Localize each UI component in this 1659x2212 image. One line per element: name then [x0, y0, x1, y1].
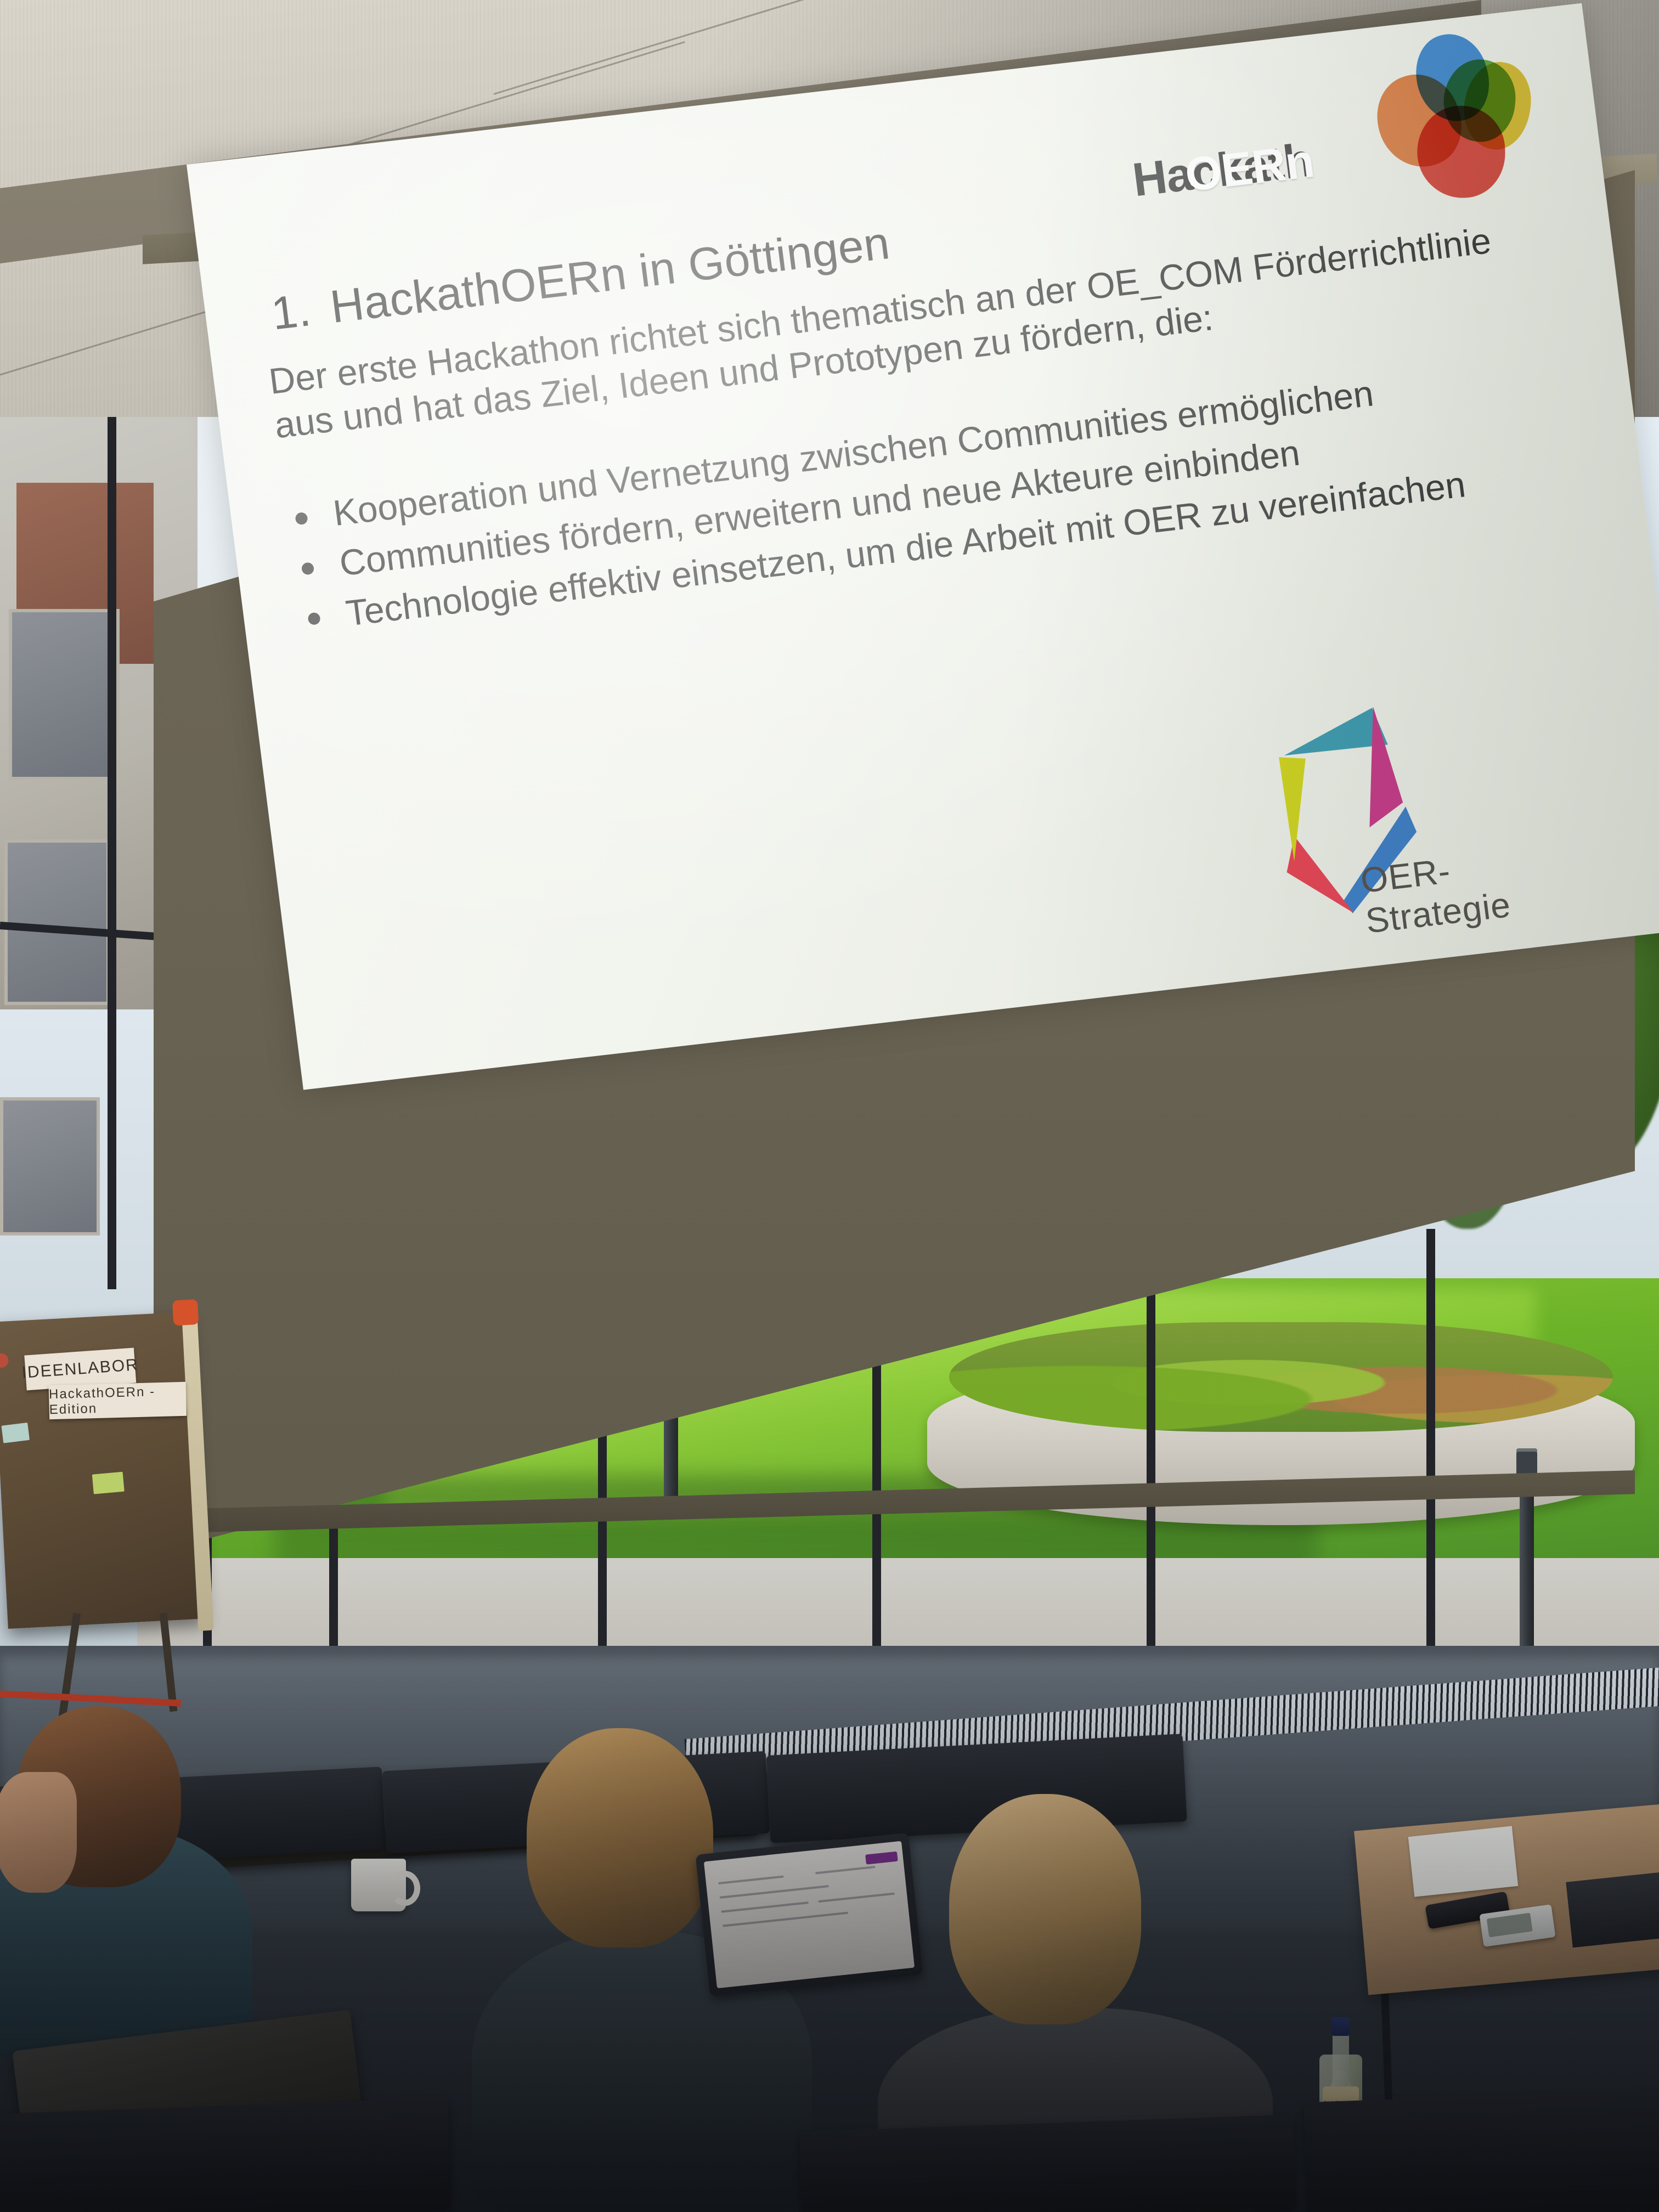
laptop-ui-line: [815, 1866, 876, 1874]
lecture-hall-photo: Hackath OERn 1.HackathOERn in Göttingen …: [0, 0, 1659, 2212]
hackathoern-logo: Hackath OERn: [1119, 24, 1554, 235]
laptop-ui-line: [720, 1885, 829, 1899]
sticky-note-green: [92, 1472, 125, 1494]
audience-member-head: [949, 1794, 1141, 2024]
oer-strategie-logo: OER-Strategie: [1254, 652, 1596, 981]
pinboard-frame-cap: [172, 1299, 199, 1325]
seat-row-front: [1304, 2089, 1659, 2212]
seat-row-front: [0, 2098, 452, 2212]
bullet-dot-icon: [307, 612, 321, 625]
projected-slide-area: Hackath OERn 1.HackathOERn in Göttingen …: [187, 3, 1659, 1101]
bullet-dot-icon: [301, 562, 315, 575]
laptop-ui-line: [723, 1912, 848, 1927]
bullet-dot-icon: [295, 512, 308, 525]
desk-papers: [1408, 1826, 1518, 1897]
logo-blob-red: [1417, 105, 1506, 198]
hackathoern-logo-highlight: OERn: [1182, 134, 1317, 202]
laptop-ui-line: [721, 1901, 809, 1913]
coffee-mug: [351, 1859, 406, 1911]
audience-laptop-open[interactable]: [695, 1832, 923, 1996]
sticky-note-blue: [1, 1423, 30, 1443]
audience-member-head: [527, 1728, 713, 1948]
slide-title-number: 1.: [268, 281, 334, 341]
presentation-slide: Hackath OERn 1.HackathOERn in Göttingen …: [187, 3, 1659, 1090]
bottle-cap: [1331, 2017, 1350, 2036]
laptop-ui-accent: [865, 1852, 898, 1865]
laptop-ui-line: [818, 1893, 895, 1903]
laptop-lid: [695, 1832, 923, 1996]
desk-equipment-box: [1566, 1871, 1659, 1948]
sticky-note-red: [0, 1353, 9, 1368]
laptop-ui-line: [718, 1875, 784, 1884]
hackathoern-logo-blobs: [1359, 25, 1543, 207]
pinboard: IDEENLABOR HackathOERn - Edition: [0, 1312, 205, 1629]
audience-member-face: [0, 1772, 77, 1893]
pinboard-sign-edition: HackathOERn - Edition: [49, 1382, 187, 1420]
seat-row-front: [799, 2114, 1296, 2212]
bottle-neck: [1333, 2030, 1349, 2091]
laptop-display[interactable]: [704, 1841, 915, 1989]
